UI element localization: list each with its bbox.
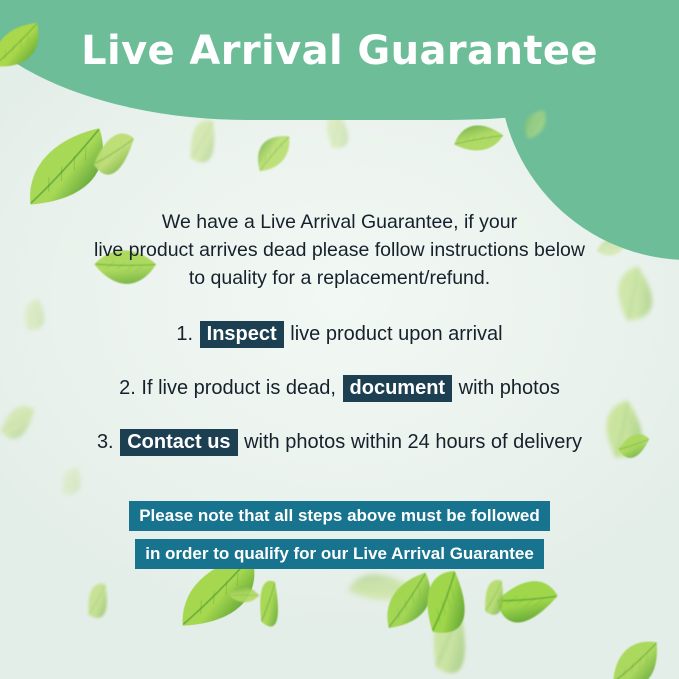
step-text-before-2: If live product is dead, (141, 377, 336, 399)
intro-line-2: live product arrives dead please follow … (55, 236, 624, 264)
steps-list: 1. Inspect live product upon arrival 2. … (40, 320, 639, 482)
notice-line-2: in order to qualify for our Live Arrival… (135, 539, 544, 569)
step-item-1: 1. Inspect live product upon arrival (40, 320, 639, 348)
notice-line-1: Please note that all steps above must be… (129, 501, 550, 531)
step-item-2: 2. If live product is dead, document wit… (40, 374, 639, 402)
step-highlight-document: document (343, 375, 453, 402)
step-text-after-1: live product upon arrival (290, 323, 502, 345)
step-text-after-2: with photos (459, 377, 560, 399)
notice-row-1: Please note that all steps above must be… (0, 501, 679, 539)
page-title: Live Arrival Guarantee (0, 31, 679, 71)
step-item-3: 3. Contact us with photos within 24 hour… (40, 428, 639, 456)
step-number-3: 3. (97, 431, 114, 453)
step-highlight-contact-us: Contact us (120, 429, 237, 456)
intro-line-3: to quality for a replacement/refund. (55, 264, 624, 292)
notice-row-2: in order to qualify for our Live Arrival… (0, 539, 679, 577)
step-highlight-inspect: Inspect (200, 321, 284, 348)
intro-paragraph: We have a Live Arrival Guarantee, if you… (55, 208, 624, 292)
step-number-2: 2. (119, 377, 136, 399)
live-arrival-guarantee-poster: Live Arrival Guarantee We have a Live Ar… (0, 0, 679, 679)
step-number-1: 1. (176, 323, 193, 345)
notice-block: Please note that all steps above must be… (0, 501, 679, 577)
content-area: We have a Live Arrival Guarantee, if you… (0, 0, 679, 679)
intro-line-1: We have a Live Arrival Guarantee, if you… (55, 208, 624, 236)
step-text-after-3: with photos within 24 hours of delivery (244, 431, 582, 453)
